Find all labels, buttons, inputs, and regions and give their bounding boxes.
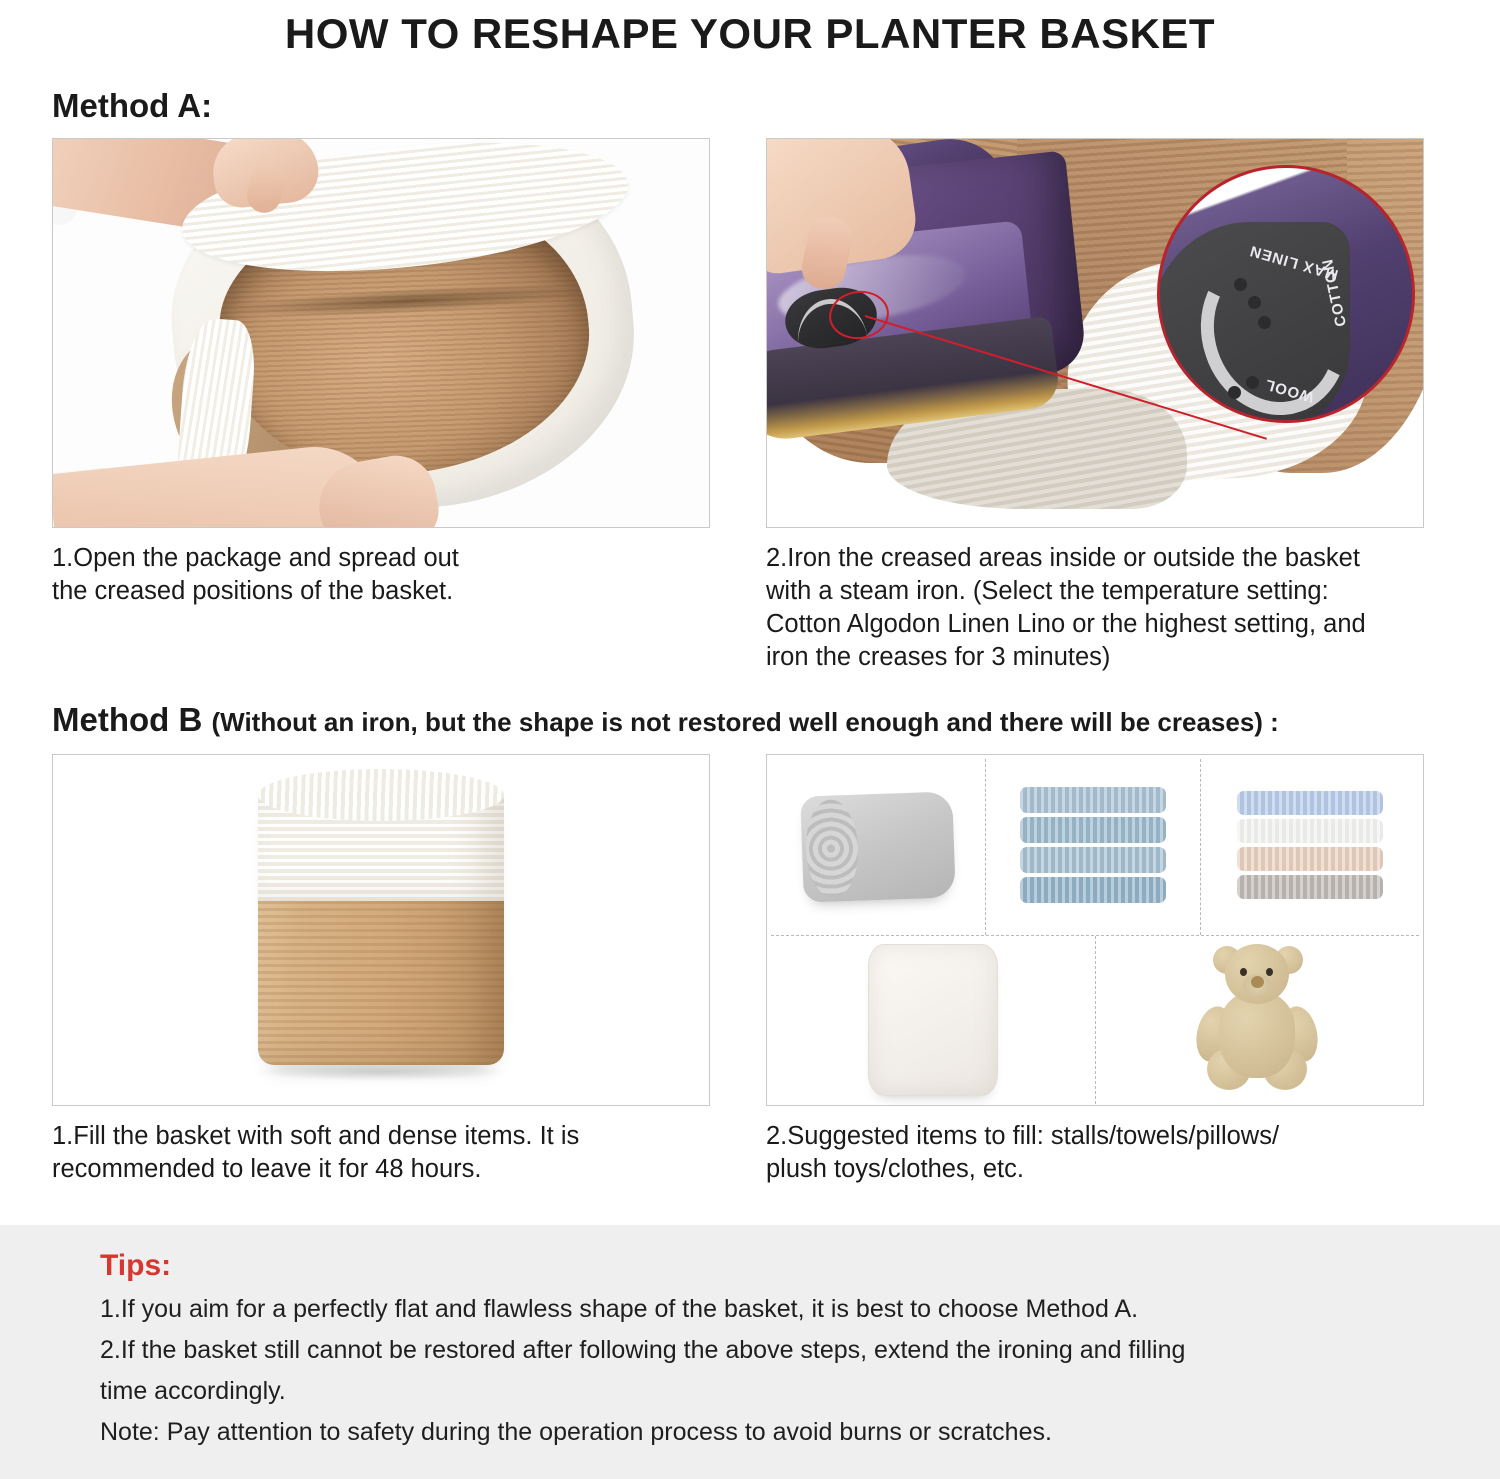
fill-item-rolled-grey-blanket: [771, 759, 986, 935]
fill-item-teddy-bear-plush-toy: [1096, 936, 1420, 1104]
step-caption: 1.Fill the basket with soft and dense it…: [52, 1120, 710, 1186]
method-b-panels: 1.Fill the basket with soft and dense it…: [52, 754, 1424, 1186]
page-title: HOW TO RESHAPE YOUR PLANTER BASKET: [0, 0, 1500, 60]
method-a-heading: Method A:: [52, 86, 1500, 126]
step-caption: 1.Open the package and spread out the cr…: [52, 542, 710, 608]
fill-item-stacked-folded-clothes: [1201, 759, 1419, 935]
blanket-roll-spiral: [804, 799, 859, 899]
steam-iron-on-basket-photo: MAX LINEN COTTON WOOL: [766, 138, 1424, 528]
method-a-step-2: MAX LINEN COTTON WOOL 2.Iron the creased…: [766, 138, 1424, 674]
bear-eye-left: [1240, 968, 1247, 976]
clothes-layer: [1237, 819, 1383, 843]
step-caption: 2.Iron the creased areas inside or outsi…: [766, 542, 1424, 674]
towel-layer: [1020, 817, 1166, 843]
dial-dot: [1234, 278, 1247, 291]
towel-layer: [1020, 877, 1166, 903]
method-a-panels: 1.Open the package and spread out the cr…: [52, 138, 1424, 674]
fill-item-white-pillow: [771, 936, 1096, 1104]
tips-section: Tips: 1.If you aim for a perfectly flat …: [0, 1225, 1500, 1479]
dial-dot: [1248, 296, 1261, 309]
clothes-layer: [1237, 791, 1383, 815]
method-b-heading-sub: (Without an iron, but the shape is not r…: [211, 707, 1278, 737]
tips-title: Tips:: [100, 1247, 1500, 1285]
method-b-step-2: 2.Suggested items to fill: stalls/towels…: [766, 754, 1424, 1186]
tips-line: 2.If the basket still cannot be restored…: [100, 1330, 1500, 1371]
rolled-blanket-shape: [800, 791, 956, 902]
pillow-shape: [868, 944, 998, 1096]
clothes-layer: [1237, 847, 1383, 871]
method-b-step-1: 1.Fill the basket with soft and dense it…: [52, 754, 710, 1186]
clothes-stack: [1237, 791, 1383, 903]
tips-line: 1.If you aim for a perfectly flat and fl…: [100, 1289, 1500, 1330]
bear-body: [1219, 992, 1295, 1078]
teddy-bear-shape: [1187, 944, 1327, 1096]
magnified-dial-callout: MAX LINEN COTTON WOOL: [1157, 165, 1415, 423]
bear-nose: [1251, 976, 1264, 988]
dial-dot: [1228, 386, 1241, 399]
dial-dot: [1258, 316, 1271, 329]
method-b-heading-main: Method B: [52, 701, 202, 738]
step-caption: 2.Suggested items to fill: stalls/towels…: [766, 1120, 1424, 1186]
tips-line: Note: Pay attention to safety during the…: [100, 1412, 1500, 1453]
fill-item-folded-blue-towels: [986, 759, 1201, 935]
fill-items-row-bottom: [771, 936, 1419, 1104]
bear-eye-right: [1266, 968, 1273, 976]
method-a-step-1: 1.Open the package and spread out the cr…: [52, 138, 710, 674]
filled-rope-basket-photo: [52, 754, 710, 1106]
basket-drop-shadow: [256, 1063, 506, 1081]
towel-layer: [1020, 787, 1166, 813]
blue-towel-stack: [1020, 787, 1166, 907]
rope-basket-outer-rim: [258, 769, 504, 821]
hands-spreading-basket-photo: [52, 138, 710, 528]
towel-layer: [1020, 847, 1166, 873]
fill-items-row-top: [771, 759, 1419, 936]
tips-line: time accordingly.: [100, 1371, 1500, 1412]
suggested-fill-items-grid: [766, 754, 1424, 1106]
method-b-heading: Method B (Without an iron, but the shape…: [52, 700, 1500, 742]
dial-dot: [1246, 376, 1259, 389]
clothes-layer: [1237, 875, 1383, 899]
